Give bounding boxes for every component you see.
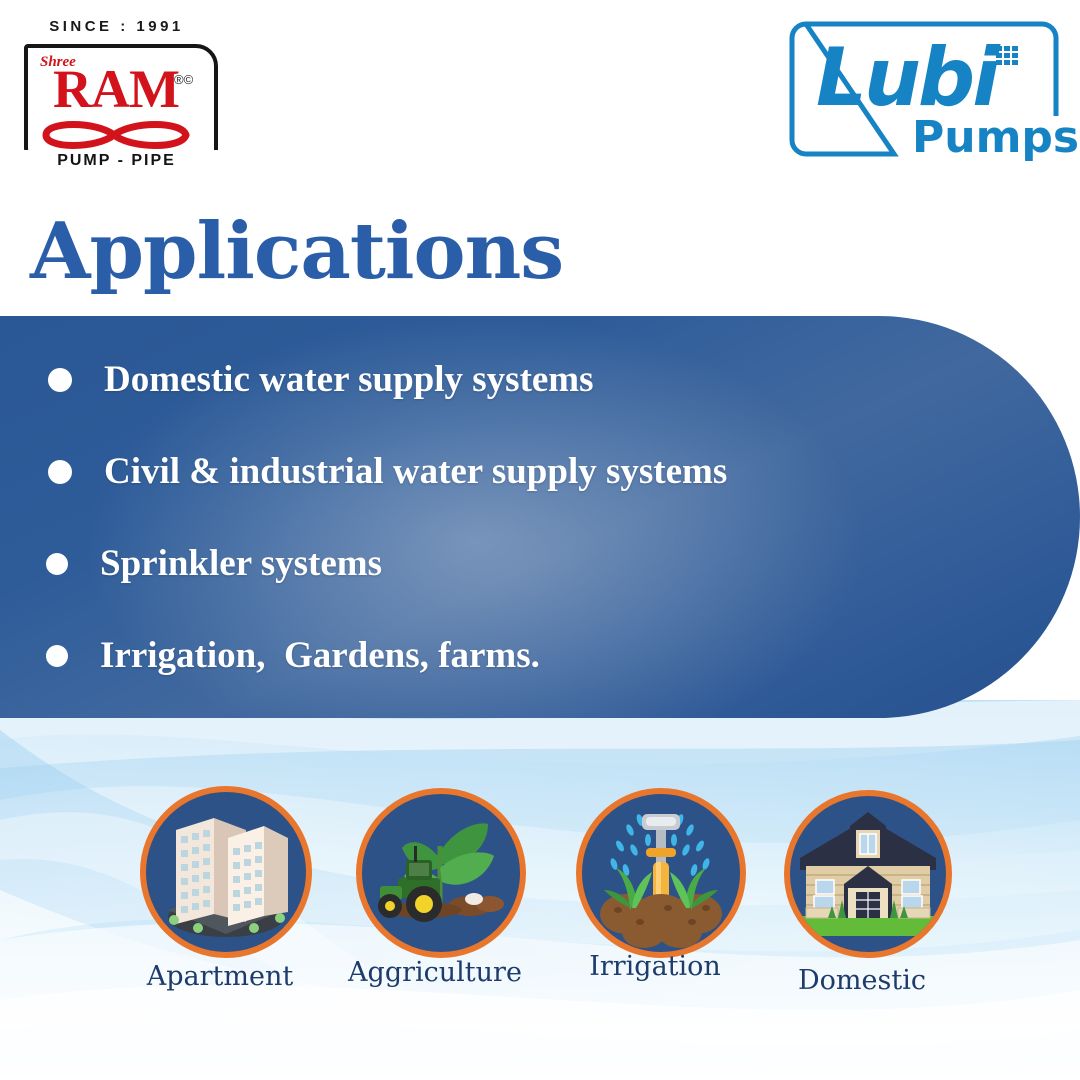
bullet-dot-icon: [48, 368, 72, 392]
bullet-dot-icon: [46, 553, 68, 575]
list-item: Sprinkler systems: [46, 544, 382, 584]
apartment-buildings-icon: [146, 792, 306, 952]
segment-circle-domestic[interactable]: [784, 790, 952, 958]
segment-circle-agriculture[interactable]: [356, 788, 526, 958]
list-item-label: Irrigation, Gardens, farms.: [100, 636, 540, 676]
page-title: Applications: [30, 210, 563, 294]
shree-ram-logo: SINCE : 1991 Shree RAM ®© PUMP - PIPE: [14, 18, 219, 166]
since-label: SINCE : 1991: [14, 18, 219, 35]
tractor-plant-icon: [362, 794, 520, 952]
grid-dots-icon: [996, 46, 1022, 70]
registered-trademark-icon: ®©: [174, 72, 193, 87]
list-item-label: Sprinkler systems: [100, 544, 382, 584]
ram-wordmark: RAM: [36, 62, 196, 116]
applications-panel: Domestic water supply systems Civil & in…: [0, 316, 1080, 718]
segment-circle-irrigation[interactable]: [576, 788, 746, 958]
segment-label-domestic: Domestic: [732, 966, 992, 996]
list-item: Irrigation, Gardens, farms.: [46, 636, 540, 676]
house-icon: [790, 796, 946, 952]
pumps-wordmark: Pumps: [906, 116, 1080, 160]
applications-poster: Domestic water supply systems Civil & in…: [0, 0, 1080, 1080]
list-item-label: Civil & industrial water supply systems: [104, 452, 727, 492]
list-item: Civil & industrial water supply systems: [48, 452, 727, 492]
segment-circle-apartment[interactable]: [140, 786, 312, 958]
list-item: Domestic water supply systems: [48, 360, 594, 400]
sprinkler-plants-icon: [582, 794, 740, 952]
list-item-label: Domestic water supply systems: [104, 360, 594, 400]
bullet-dot-icon: [46, 645, 68, 667]
lubi-wordmark: Lubi: [816, 38, 997, 118]
lubi-pumps-logo: Lubi Pumps: [788, 20, 1060, 172]
bullet-dot-icon: [48, 460, 72, 484]
infinity-swirl-icon: [40, 118, 192, 152]
pump-pipe-label: PUMP - PIPE: [14, 150, 219, 172]
